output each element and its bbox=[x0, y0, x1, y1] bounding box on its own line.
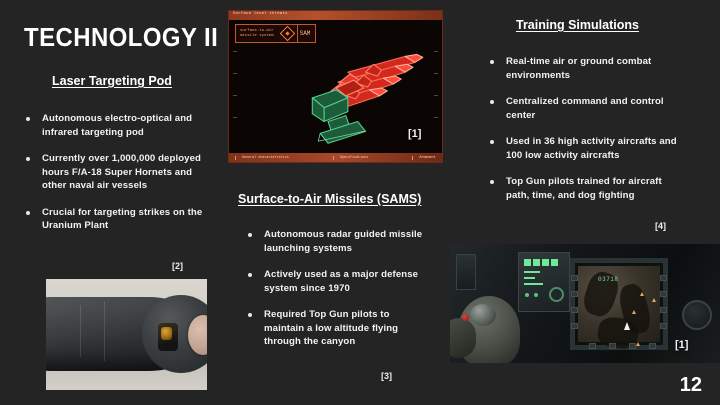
mfd-target-caret bbox=[652, 298, 656, 302]
sam-diagram-bottombar: General characteristics Specifications A… bbox=[229, 153, 442, 162]
mfd-aircraft-cursor bbox=[624, 322, 630, 330]
mfd-bezel-button bbox=[571, 275, 578, 281]
page-number: 12 bbox=[680, 374, 702, 397]
ruler-tick bbox=[233, 51, 237, 52]
cockpit-left-panel bbox=[456, 254, 476, 290]
list-item: Currently over 1,000,000 deployed hours … bbox=[22, 152, 207, 193]
mfd-bezel-button bbox=[571, 291, 578, 297]
sam-diagram-tag-code: SAM bbox=[297, 25, 316, 42]
mfd-bezel-button bbox=[649, 343, 656, 349]
section-heading-laser-targeting-pod: Laser Targeting Pod bbox=[52, 74, 172, 88]
panel-indicator-led bbox=[525, 293, 529, 297]
pilot-visor bbox=[470, 304, 496, 326]
mfd-bezel-button bbox=[660, 307, 667, 313]
mfd-bezel-button bbox=[629, 343, 636, 349]
bullet-list-surface-to-air-missiles: Autonomous radar guided missile launchin… bbox=[244, 228, 424, 362]
ruler-tick bbox=[434, 73, 438, 74]
list-item: Actively used as a major defense system … bbox=[244, 268, 424, 295]
list-item: Centralized command and control center bbox=[486, 95, 684, 122]
sam-bottom-item: Specifications bbox=[333, 156, 369, 160]
mfd-target-caret bbox=[636, 342, 640, 346]
mfd-bezel-button bbox=[609, 343, 616, 349]
mfd-bezel-button bbox=[660, 275, 667, 281]
mfd-bezel-button bbox=[571, 323, 578, 329]
list-item: Autonomous radar guided missile launchin… bbox=[244, 228, 424, 255]
panel-led-bar bbox=[551, 259, 558, 266]
mfd-bezel-button bbox=[660, 323, 667, 329]
citation-marker-1-cockpit: [1] bbox=[675, 339, 688, 351]
section-heading-surface-to-air-missiles: Surface-to-Air Missiles (SAMS) bbox=[238, 192, 421, 206]
sam-bottom-item: Armament bbox=[412, 156, 435, 160]
crosshair-diamond-icon bbox=[279, 26, 295, 42]
ruler-tick bbox=[233, 117, 237, 118]
list-item: Required Top Gun pilots to maintain a lo… bbox=[244, 308, 424, 349]
mfd-target-caret bbox=[640, 292, 644, 296]
list-item: Used in 36 high activity aircrafts and 1… bbox=[486, 135, 684, 162]
list-item: Real-time air or ground combat environme… bbox=[486, 55, 684, 82]
image-laser-targeting-pod bbox=[46, 279, 207, 390]
bullet-list-training-simulations: Real-time air or ground combat environme… bbox=[486, 55, 684, 215]
bullet-list-laser-targeting-pod: Autonomous electro-optical and infrared … bbox=[22, 112, 207, 246]
citation-marker-1-sam: [1] bbox=[408, 128, 421, 140]
citation-marker-3: [3] bbox=[381, 371, 392, 381]
sam-diagram-tag-text: surface-to-air missile system bbox=[236, 29, 278, 39]
pod-panel-seam bbox=[104, 301, 105, 361]
presentation-slide: TECHNOLOGY II Laser Targeting Pod Autono… bbox=[0, 0, 720, 405]
ruler-tick bbox=[434, 95, 438, 96]
sam-diagram-topbar: Surface level threats bbox=[229, 11, 442, 20]
ruler-tick bbox=[233, 95, 237, 96]
citation-marker-2: [2] bbox=[172, 261, 183, 271]
mfd-terrain-map: 03718 bbox=[578, 266, 660, 342]
list-item: Crucial for targeting strikes on the Ura… bbox=[22, 206, 207, 233]
panel-indicator-led bbox=[534, 293, 538, 297]
mfd-bezel-button bbox=[660, 291, 667, 297]
pod-panel-seam bbox=[80, 305, 81, 357]
sam-diagram-topbar-label: Surface level threats bbox=[233, 12, 288, 16]
panel-led-bar bbox=[524, 277, 535, 279]
cockpit-mfd-display: 03718 bbox=[570, 258, 668, 350]
panel-led-bar bbox=[524, 271, 540, 273]
mfd-bezel-button bbox=[589, 343, 596, 349]
control-stick-red-button bbox=[462, 314, 469, 321]
panel-led-bar bbox=[542, 259, 549, 266]
cockpit-instrument-panel bbox=[518, 252, 570, 312]
image-sam-diagram: Surface level threats surface-to-air mis… bbox=[228, 10, 443, 163]
sam-bottom-item: General characteristics bbox=[235, 156, 289, 160]
pod-sensor-lens bbox=[161, 327, 172, 340]
mfd-hud-readout: 03718 bbox=[598, 276, 619, 283]
ruler-tick bbox=[434, 51, 438, 52]
mfd-bezel-button bbox=[571, 307, 578, 313]
ruler-tick bbox=[434, 117, 438, 118]
list-item: Autonomous electro-optical and infrared … bbox=[22, 112, 207, 139]
panel-led-bar bbox=[524, 259, 531, 266]
panel-led-bar bbox=[524, 283, 543, 285]
panel-rotary-knob bbox=[549, 287, 564, 302]
cockpit-right-gauge bbox=[682, 300, 712, 330]
panel-led-bar bbox=[533, 259, 540, 266]
mfd-target-caret bbox=[632, 310, 636, 314]
page-title: TECHNOLOGY II bbox=[24, 22, 218, 53]
citation-marker-4: [4] bbox=[655, 221, 666, 231]
sam-diagram-label-tag: surface-to-air missile system SAM bbox=[235, 24, 316, 43]
list-item: Top Gun pilots trained for aircraft path… bbox=[486, 175, 684, 202]
ruler-tick bbox=[233, 73, 237, 74]
section-heading-training-simulations: Training Simulations bbox=[516, 18, 639, 32]
